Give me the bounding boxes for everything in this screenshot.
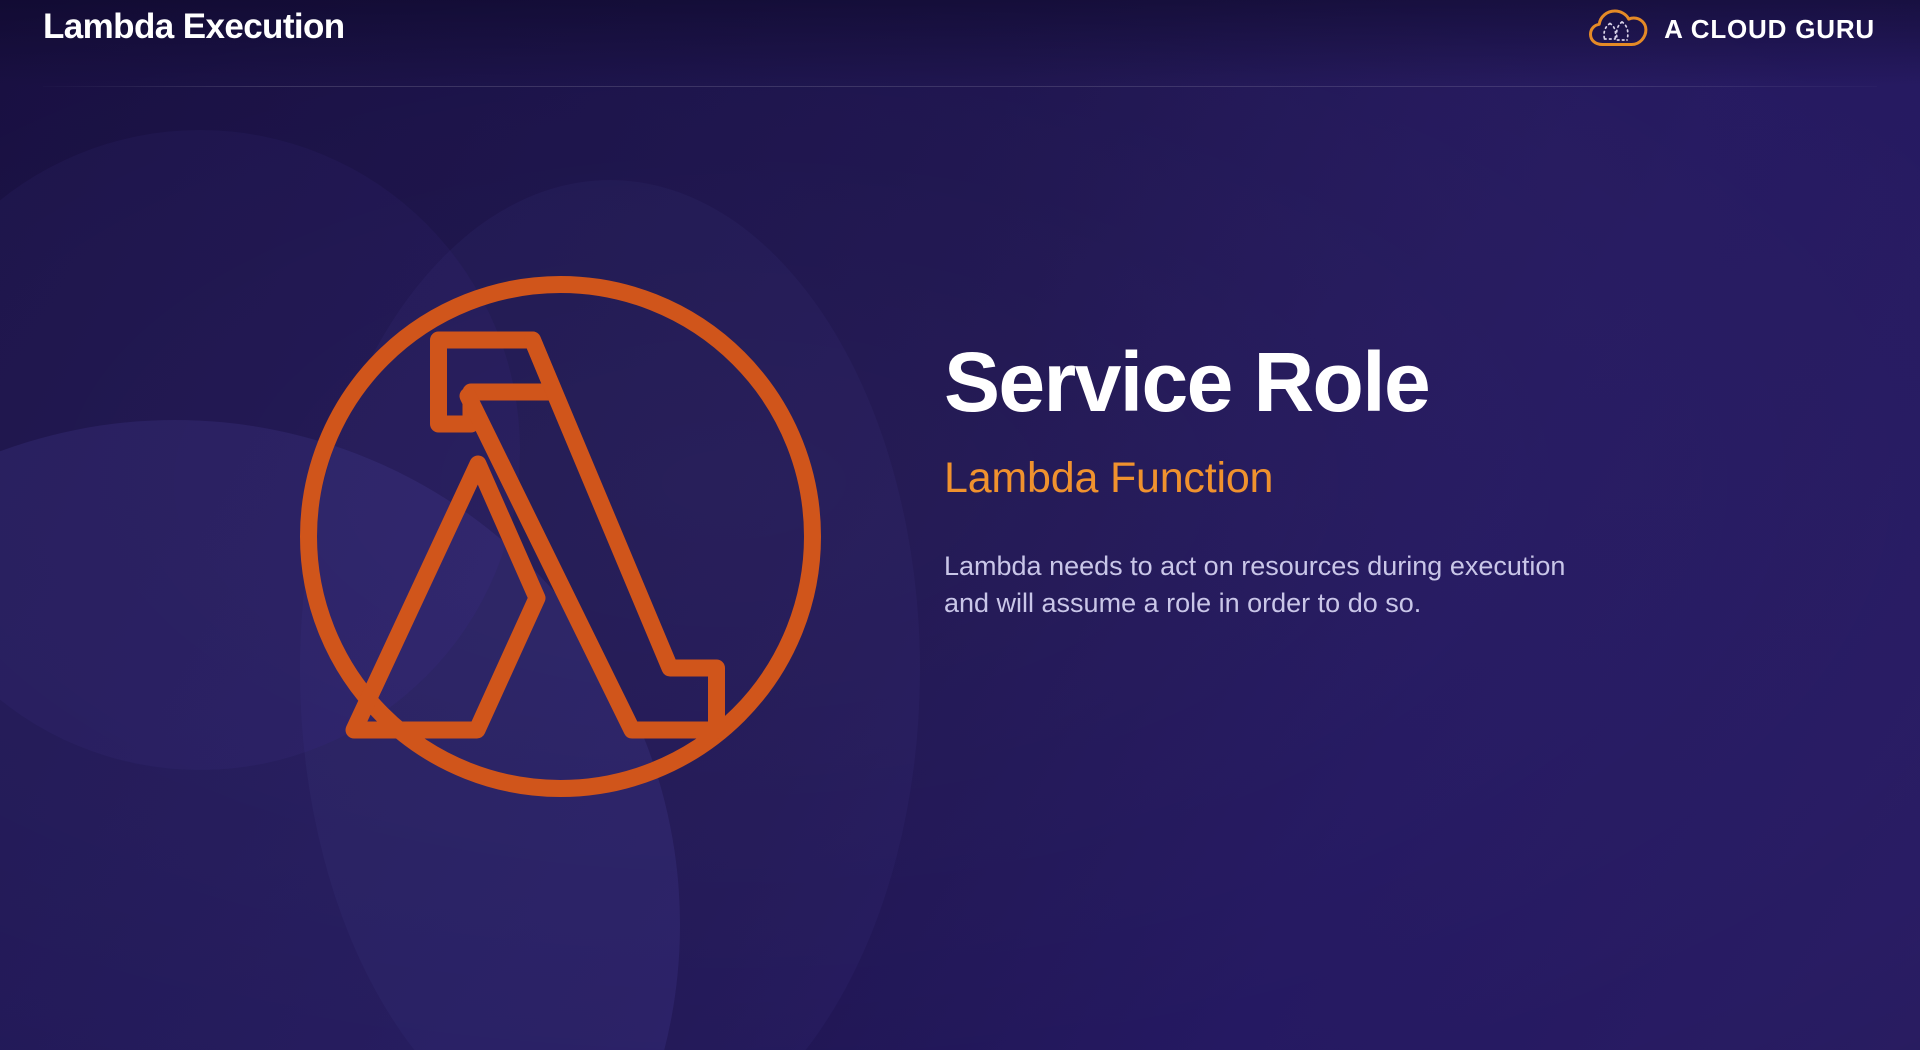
brand-name-label: A CLOUD GURU <box>1664 14 1875 45</box>
brand-logo: A CLOUD GURU <box>1588 8 1875 50</box>
slide-header: ACG HANDS-ON LABS Lambda Execution A CLO… <box>0 0 1920 86</box>
slide-canvas: ACG HANDS-ON LABS Lambda Execution A CLO… <box>0 0 1920 1050</box>
slide-description: Lambda needs to act on resources during … <box>944 548 1604 622</box>
cloud-guru-logo-icon <box>1588 8 1650 50</box>
slide-copy-block: Service Role Lambda Function Lambda need… <box>944 334 1764 622</box>
header-title-group: ACG HANDS-ON LABS Lambda Execution <box>43 0 345 48</box>
slide-body: Service Role Lambda Function Lambda need… <box>0 87 1920 1050</box>
header-divider <box>43 86 1877 87</box>
aws-lambda-icon <box>292 268 829 805</box>
slide-subheading: Lambda Function <box>944 452 1764 504</box>
slide-heading: Service Role <box>944 334 1764 430</box>
page-title: Lambda Execution <box>43 6 345 48</box>
header-eyebrow: ACG HANDS-ON LABS <box>43 0 345 4</box>
